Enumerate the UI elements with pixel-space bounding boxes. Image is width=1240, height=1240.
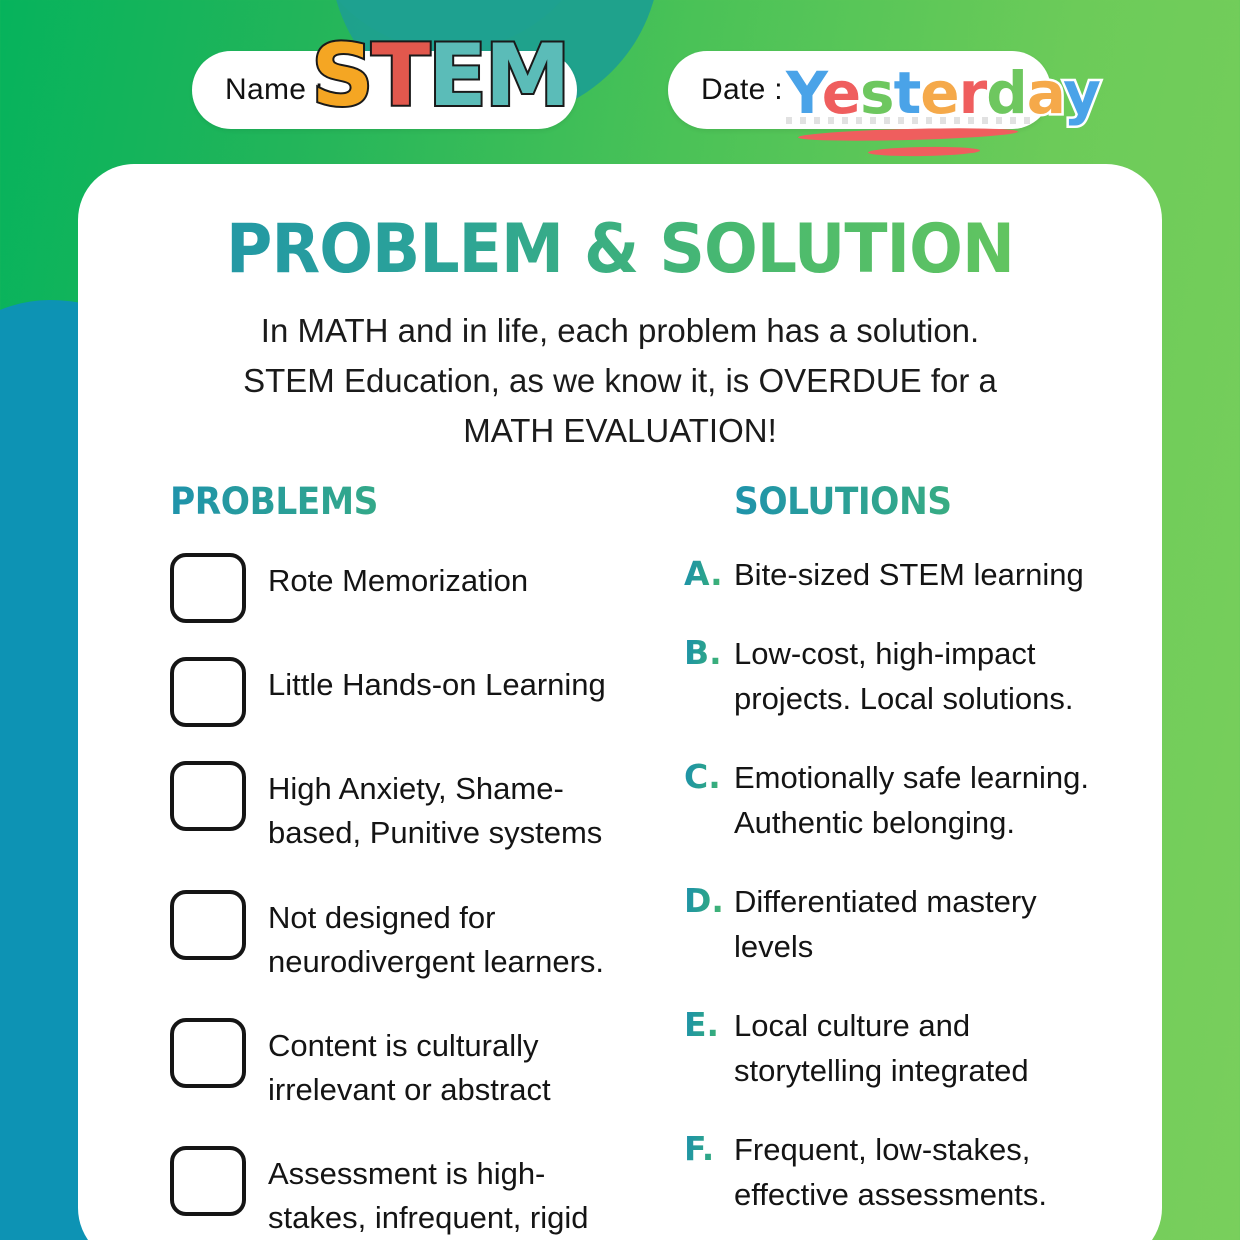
problem-row[interactable]: High Anxiety, Shame-based, Punitive syst… <box>170 761 648 855</box>
solution-letter-a: A. <box>684 553 734 596</box>
problem-row[interactable]: Rote Memorization <box>170 553 648 623</box>
problem-checkbox-3[interactable] <box>170 761 246 831</box>
solutions-column: SOLUTIONS A. Bite-sized STEM learning B.… <box>648 480 1162 1240</box>
date-value-sticker: Yesterday <box>786 59 1100 127</box>
solution-letter-e: E. <box>684 1004 734 1047</box>
worksheet-columns: PROBLEMS Rote Memorization Little Hands-… <box>78 480 1162 1240</box>
date-label: Date : <box>668 73 783 107</box>
problem-row[interactable]: Little Hands-on Learning <box>170 657 648 727</box>
subtitle-line-3: MATH EVALUATION! <box>174 406 1066 456</box>
solution-label-e: Local culture and storytelling integrate… <box>734 1004 1124 1094</box>
solution-row: A. Bite-sized STEM learning <box>684 553 1162 598</box>
date-underline-stroke <box>798 126 1018 143</box>
solution-row: E. Local culture and storytelling integr… <box>684 1004 1162 1094</box>
solution-letter-d: D. <box>684 880 734 923</box>
problem-label-3: High Anxiety, Shame-based, Punitive syst… <box>268 761 618 855</box>
solution-row: B. Low-cost, high-impact projects. Local… <box>684 632 1162 722</box>
solution-row: F. Frequent, low-stakes, effective asses… <box>684 1128 1162 1218</box>
date-underline-stroke-2 <box>868 146 980 157</box>
worksheet-subtitle: In MATH and in life, each problem has a … <box>78 306 1162 456</box>
date-field[interactable]: Date : Yesterday <box>668 51 1051 129</box>
problem-checkbox-4[interactable] <box>170 890 246 960</box>
problem-label-5: Content is culturally irrelevant or abst… <box>268 1018 618 1112</box>
problem-checkbox-6[interactable] <box>170 1146 246 1216</box>
problem-row[interactable]: Assessment is high-stakes, infrequent, r… <box>170 1146 648 1240</box>
problem-row[interactable]: Not designed for neurodivergent learners… <box>170 890 648 984</box>
solution-label-f: Frequent, low-stakes, effective assessme… <box>734 1128 1124 1218</box>
problem-row[interactable]: Content is culturally irrelevant or abst… <box>170 1018 648 1112</box>
problems-column: PROBLEMS Rote Memorization Little Hands-… <box>78 480 648 1240</box>
solution-label-d: Differentiated mastery levels <box>734 880 1124 970</box>
problem-checkbox-5[interactable] <box>170 1018 246 1088</box>
solution-letter-c: C. <box>684 756 734 799</box>
problem-label-6: Assessment is high-stakes, infrequent, r… <box>268 1146 618 1240</box>
solution-label-c: Emotionally safe learning. Authentic bel… <box>734 756 1124 846</box>
name-field[interactable]: Name : <box>192 51 577 129</box>
subtitle-line-1: In MATH and in life, each problem has a … <box>174 306 1066 356</box>
solution-letter-f: F. <box>684 1128 734 1171</box>
solution-label-b: Low-cost, high-impact projects. Local so… <box>734 632 1124 722</box>
page-title: PROBLEM & SOLUTION <box>116 216 1124 284</box>
problem-checkbox-2[interactable] <box>170 657 246 727</box>
solution-row: C. Emotionally safe learning. Authentic … <box>684 756 1162 846</box>
name-label: Name : <box>192 73 324 107</box>
problem-label-1: Rote Memorization <box>268 553 528 603</box>
solution-letter-b: B. <box>684 632 734 675</box>
problem-label-2: Little Hands-on Learning <box>268 657 606 707</box>
worksheet-card: PROBLEM & SOLUTION In MATH and in life, … <box>78 164 1162 1240</box>
solution-label-a: Bite-sized STEM learning <box>734 553 1084 598</box>
solutions-heading: SOLUTIONS <box>734 480 1132 523</box>
solution-row: D. Differentiated mastery levels <box>684 880 1162 970</box>
problem-label-4: Not designed for neurodivergent learners… <box>268 890 618 984</box>
problem-checkbox-1[interactable] <box>170 553 246 623</box>
subtitle-line-2: STEM Education, as we know it, is OVERDU… <box>174 356 1066 406</box>
problems-heading: PROBLEMS <box>170 480 615 523</box>
